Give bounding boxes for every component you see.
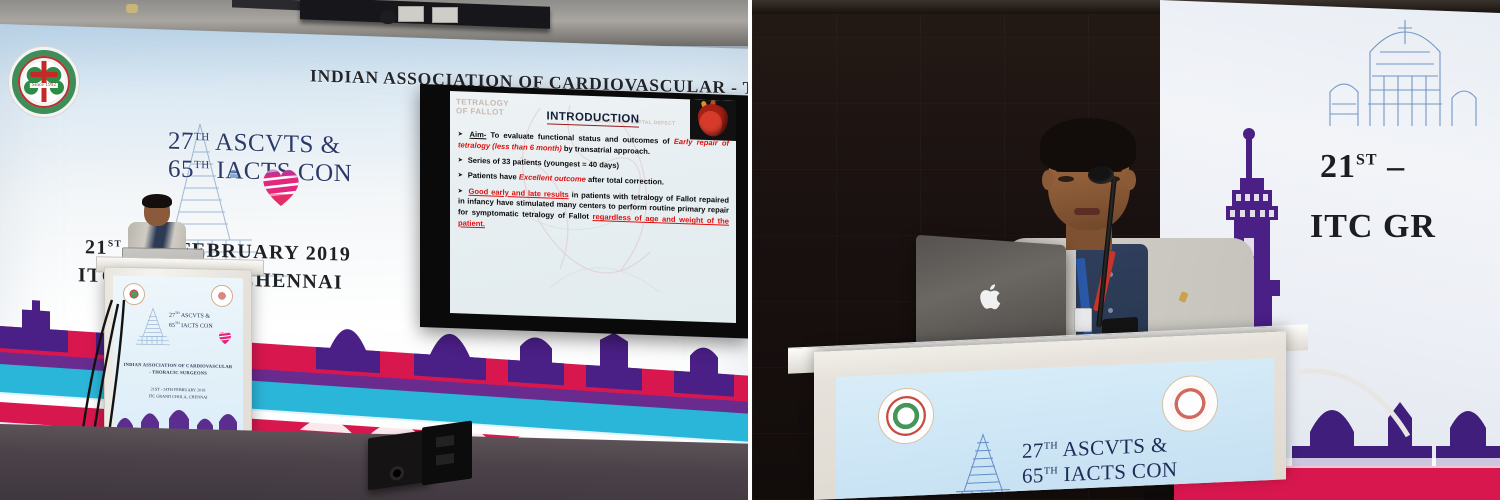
building-sketch-icon (1310, 6, 1500, 136)
stage-monitor-speaker (368, 424, 478, 490)
ceiling-spotlight (126, 4, 138, 13)
podium-heart-icon (217, 330, 233, 345)
gooseneck-microphone (1088, 166, 1114, 184)
asian-society-logo: Since 1992 (8, 46, 80, 118)
podium-sign-right: 27TH ASCVTS & 65TH IACTS CON (836, 358, 1274, 499)
right-photo-panel: 21ST – ITC GR (752, 0, 1500, 500)
backdrop-venue-right: ITC GR (1310, 208, 1436, 246)
backdrop-dates-right: 21ST – (1320, 148, 1405, 186)
speaker-hair (1040, 118, 1136, 172)
podium-gopuram-icon (135, 306, 171, 351)
dome-camera-icon (380, 10, 396, 24)
screenshot-root: Since 1992 27TH ASCVTS & 65TH IAC (0, 0, 1500, 500)
slide-bullet-aim: Aim- To evaluate functional status and o… (458, 129, 729, 160)
logo-since-text: Since 1992 (30, 83, 58, 88)
speaker-badge (1074, 308, 1092, 332)
presentation-slide: TETRALOGY OF FALLOT VENTRICULAR SEPTAL D… (450, 91, 736, 323)
ceiling-speaker-box-2 (432, 7, 458, 23)
podium-logo-asian-right (878, 387, 934, 445)
podium-cable (1298, 366, 1418, 446)
podium-conference-title: 27TH ASCVTS & 65TH IACTS CON (169, 311, 213, 331)
podium-logo-iacts (211, 285, 233, 307)
slide-bullet-results: Good early and late results in patients … (458, 186, 729, 239)
podium-conference-title-right: 27TH ASCVTS & 65TH IACTS CON (1022, 432, 1177, 489)
ceiling-speaker-box (398, 6, 424, 22)
projection-screen: TETRALOGY OF FALLOT VENTRICULAR SEPTAL D… (420, 84, 748, 338)
podium-gopuram-icon-right (948, 431, 1018, 499)
left-photo-panel: Since 1992 27TH ASCVTS & 65TH IAC (0, 0, 748, 500)
heart-logo-icon (258, 163, 304, 208)
podium-logo-iacts-right (1162, 374, 1218, 432)
slide-body: Aim- To evaluate functional status and o… (458, 129, 729, 243)
lectern-right: 27TH ASCVTS & 65TH IACTS CON (814, 331, 1286, 500)
apple-icon (978, 281, 1004, 313)
